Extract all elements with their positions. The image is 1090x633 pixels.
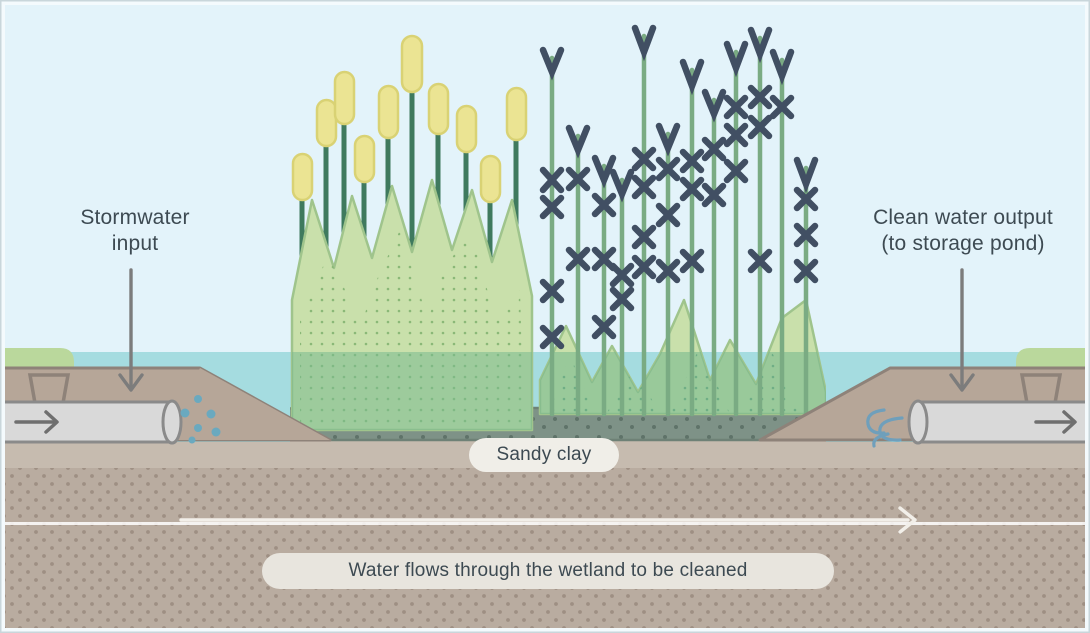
- wetland-diagram: Stormwater input Clean water output (to …: [0, 0, 1090, 633]
- outlet-pipe: [909, 401, 1090, 443]
- stormwater-input-label: Stormwater input: [30, 205, 240, 257]
- clean-water-output-label: Clean water output (to storage pond): [838, 205, 1088, 257]
- water-flow-note-label: Water flows through the wetland to be cl…: [262, 553, 834, 589]
- diagram-canvas: [0, 0, 1090, 633]
- inlet-pipe: [0, 401, 181, 443]
- sandy-clay-label: Sandy clay: [469, 438, 619, 472]
